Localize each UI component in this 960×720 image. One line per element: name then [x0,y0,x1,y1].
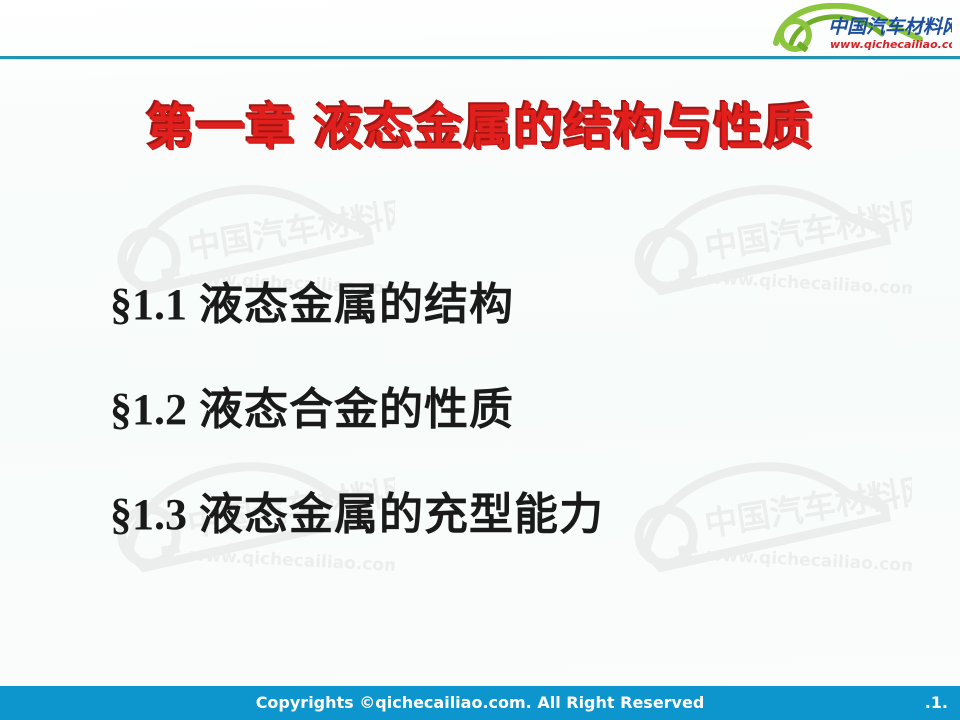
svg-text:www.qichecailiao.com: www.qichecailiao.com [830,38,952,51]
svg-text:中国汽车材料网: 中国汽车材料网 [702,192,912,267]
page-number: .1. [925,686,948,720]
page-title: 第一章 液态金属的结构与性质 [0,98,960,158]
header-divider-rule-soft [0,59,960,60]
svg-text:中国汽车材料网: 中国汽车材料网 [828,16,952,38]
list-item[interactable]: §1.1液态金属的结构 [110,278,910,383]
slide-canvas: 中国汽车材料网 www.qichecailiao.com 中国汽车材料网 www… [0,0,960,720]
outline-item-label: 液态金属的充型能力 [199,489,604,540]
outline-item-label: 液态合金的性质 [199,384,514,435]
footer-copyright-text: Copyrights ©qichecailiao.com. All Right … [0,686,960,720]
outline-item-number: §1.3 [110,490,187,539]
outline-item-number: §1.1 [110,280,187,329]
svg-text:中国汽车材料网: 中国汽车材料网 [185,192,395,267]
qichecailiao-logo-icon: 中国汽车材料网 www.qichecailiao.com [770,3,952,53]
outline-item-number: §1.2 [110,385,187,434]
list-item[interactable]: §1.3液态金属的充型能力 [110,488,910,593]
footer-bar: Copyrights ©qichecailiao.com. All Right … [0,686,960,720]
outline-list: §1.1液态金属的结构 §1.2液态合金的性质 §1.3液态金属的充型能力 [110,278,910,593]
outline-item-label: 液态金属的结构 [199,279,514,330]
list-item[interactable]: §1.2液态合金的性质 [110,383,910,488]
